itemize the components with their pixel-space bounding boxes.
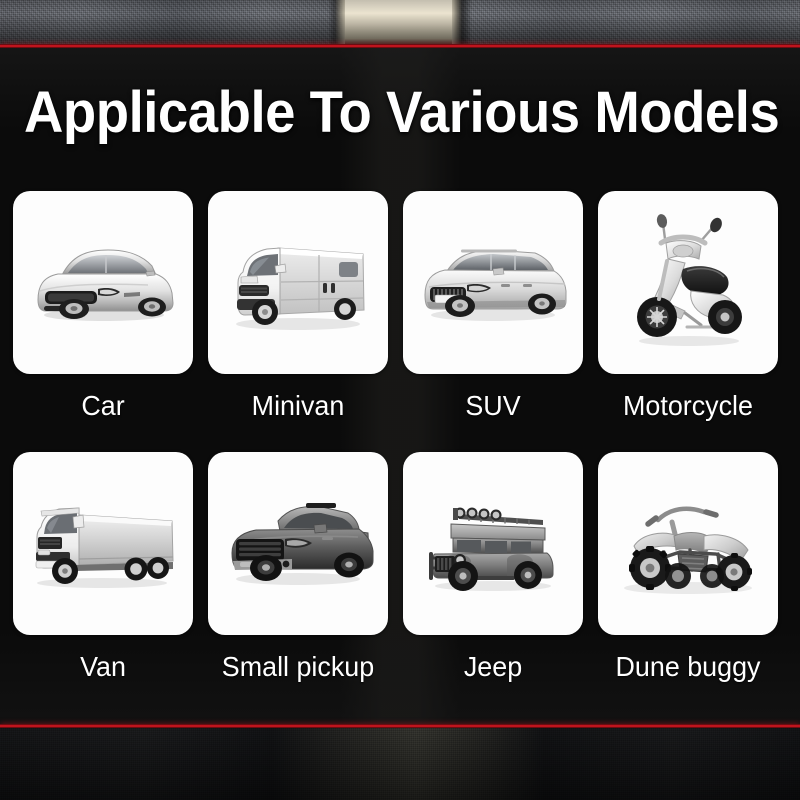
vehicle-label: SUV bbox=[407, 374, 580, 421]
vehicle-grid-row-2: Van bbox=[13, 452, 777, 682]
promo-banner: Applicable To Various Models bbox=[0, 0, 800, 800]
grid-cell-van[interactable]: Van bbox=[13, 452, 193, 682]
pickup-truck-icon bbox=[222, 491, 374, 596]
vehicle-label: Minivan bbox=[212, 374, 385, 421]
vehicle-card-car[interactable] bbox=[13, 191, 193, 374]
bottom-fade bbox=[0, 728, 800, 800]
page-title: Applicable To Various Models bbox=[24, 84, 776, 142]
grid-cell-motorcycle[interactable]: Motorcycle bbox=[598, 191, 778, 421]
grid-cell-small-pickup[interactable]: Small pickup bbox=[208, 452, 388, 682]
sports-car-icon bbox=[28, 235, 178, 330]
road-vignette bbox=[0, 0, 800, 44]
grid-cell-car[interactable]: Car bbox=[13, 191, 193, 421]
bottom-road-texture bbox=[0, 728, 800, 800]
vehicle-card-motorcycle[interactable] bbox=[598, 191, 778, 374]
vehicle-label: Car bbox=[17, 374, 190, 421]
vehicle-label: Van bbox=[17, 635, 190, 682]
vehicle-label: Dune buggy bbox=[602, 635, 775, 682]
vehicle-label: Small pickup bbox=[212, 635, 385, 682]
vehicle-card-minivan[interactable] bbox=[208, 191, 388, 374]
vehicle-card-van[interactable] bbox=[13, 452, 193, 635]
atv-quad-icon bbox=[612, 488, 764, 600]
grid-cell-suv[interactable]: SUV bbox=[403, 191, 583, 421]
vehicle-card-jeep[interactable] bbox=[403, 452, 583, 635]
offroad-jeep-icon bbox=[423, 488, 563, 600]
grid-cell-jeep[interactable]: Jeep bbox=[403, 452, 583, 682]
suv-wagon-icon bbox=[417, 235, 569, 330]
vehicle-card-small-pickup[interactable] bbox=[208, 452, 388, 635]
vehicle-grid-row-1: Car bbox=[13, 191, 777, 421]
cargo-van-icon bbox=[223, 228, 373, 338]
box-truck-icon bbox=[27, 491, 179, 596]
grid-cell-dune-buggy[interactable]: Dune buggy bbox=[598, 452, 778, 682]
vehicle-label: Jeep bbox=[407, 635, 580, 682]
scooter-icon bbox=[623, 213, 753, 353]
top-road-texture bbox=[0, 0, 800, 44]
vehicle-card-suv[interactable] bbox=[403, 191, 583, 374]
vehicle-label: Motorcycle bbox=[602, 374, 775, 421]
vehicle-card-dune-buggy[interactable] bbox=[598, 452, 778, 635]
grid-cell-minivan[interactable]: Minivan bbox=[208, 191, 388, 421]
